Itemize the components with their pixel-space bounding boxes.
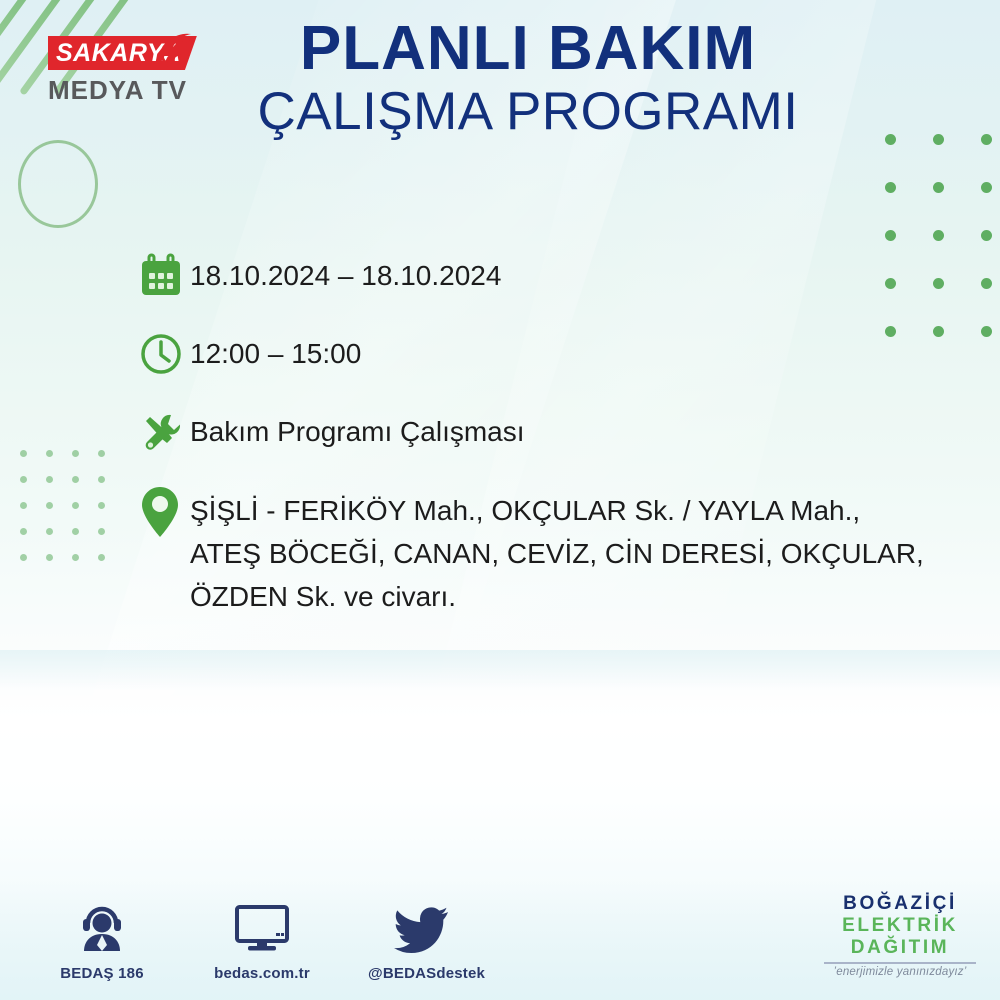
monitor-icon xyxy=(208,897,316,955)
title-sub: ÇALIŞMA PROGRAMI xyxy=(228,82,828,142)
brand-tagline: ’enerjimizle yanınızdayız’ xyxy=(820,966,980,978)
brand-line-3: DAĞITIM xyxy=(820,937,980,959)
address-line-3: ÖZDEN Sk. ve civarı. xyxy=(190,575,924,618)
detail-row-worktype: Bakım Programı Çalışması xyxy=(138,406,978,458)
calendar-icon xyxy=(138,250,190,302)
footer-contacts: BEDAŞ 186 bedas.com.tr @BEDASdestek xyxy=(48,897,476,982)
detail-row-time: 12:00 – 15:00 xyxy=(138,328,978,380)
maintenance-details: 18.10.2024 – 18.10.2024 12:00 – 15:00 Ba… xyxy=(138,250,978,644)
address-lines: ŞİŞLİ - FERİKÖY Mah., OKÇULAR Sk. / YAYL… xyxy=(190,484,924,618)
address-line-1: ŞİŞLİ - FERİKÖY Mah., OKÇULAR Sk. / YAYL… xyxy=(190,489,924,532)
contact-label-twitter: @BEDASdestek xyxy=(368,965,476,982)
detail-row-address: ŞİŞLİ - FERİKÖY Mah., OKÇULAR Sk. / YAYL… xyxy=(138,484,978,618)
dot-grid-left-decoration xyxy=(10,440,114,570)
brand-line-1: BOĞAZİÇİ xyxy=(820,893,980,915)
contact-call-center[interactable]: BEDAŞ 186 xyxy=(48,897,156,982)
sakarya-medya-tv-logo: SAKARYA MEDYA TV xyxy=(48,36,228,105)
twitter-bird-icon xyxy=(368,897,476,955)
detail-row-date: 18.10.2024 – 18.10.2024 xyxy=(138,250,978,302)
contact-website[interactable]: bedas.com.tr xyxy=(208,897,316,982)
address-line-2: ATEŞ BÖCEĞİ, CANAN, CEVİZ, CİN DERESİ, O… xyxy=(190,532,924,575)
call-center-agent-icon xyxy=(48,897,156,955)
detail-label-date: 18.10.2024 – 18.10.2024 xyxy=(190,250,501,297)
clock-icon xyxy=(138,328,190,380)
background-band-middle xyxy=(0,650,1000,690)
detail-label-worktype: Bakım Programı Çalışması xyxy=(190,406,525,453)
brand-divider xyxy=(824,962,976,964)
contact-twitter[interactable]: @BEDASdestek xyxy=(368,897,476,982)
brand-line-2: ELEKTRİK xyxy=(820,915,980,937)
planned-maintenance-poster: SAKARYA MEDYA TV PLANLI BAKIM ÇALIŞMA PR… xyxy=(0,0,1000,1000)
tools-icon xyxy=(138,406,190,458)
contact-label-call-center: BEDAŞ 186 xyxy=(48,965,156,982)
title-main: PLANLI BAKIM xyxy=(228,16,828,82)
contact-label-website: bedas.com.tr xyxy=(208,965,316,982)
page-title: PLANLI BAKIM ÇALIŞMA PROGRAMI xyxy=(228,16,828,142)
map-pin-icon xyxy=(138,484,190,536)
circle-outline-decoration xyxy=(18,140,98,228)
bedas-brand-logo: BOĞAZİÇİ ELEKTRİK DAĞITIM ’enerjimizle y… xyxy=(820,893,980,978)
globe-icon xyxy=(145,30,197,81)
detail-label-time: 12:00 – 15:00 xyxy=(190,328,361,375)
channel-logo-subtitle: MEDYA TV xyxy=(48,75,228,105)
